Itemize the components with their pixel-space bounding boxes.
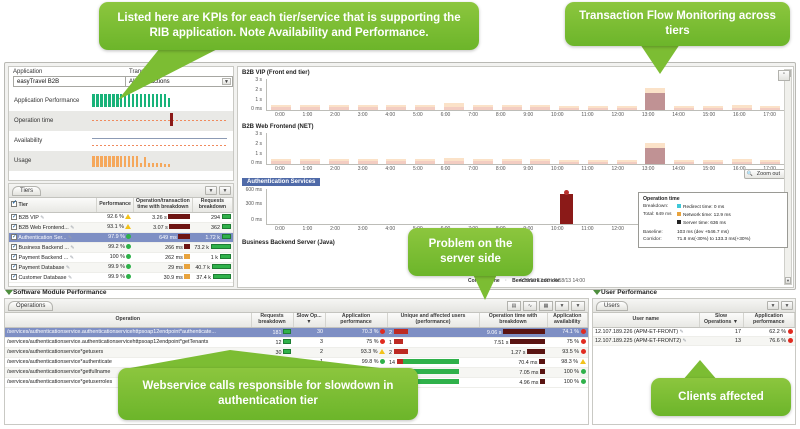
- callout-webservice-slowdown: Webservice calls responsible for slowdow…: [118, 368, 418, 420]
- callout-kpi-description: Listed here are KPIs for each tier/servi…: [99, 2, 479, 50]
- callout-clients-affected: Clients affected: [651, 378, 791, 416]
- callout-transaction-flow: Transaction Flow Monitoring across tiers: [565, 2, 790, 46]
- callout-server-side-problem: Problem on the server side: [408, 228, 533, 276]
- callout-pointers: [0, 0, 800, 429]
